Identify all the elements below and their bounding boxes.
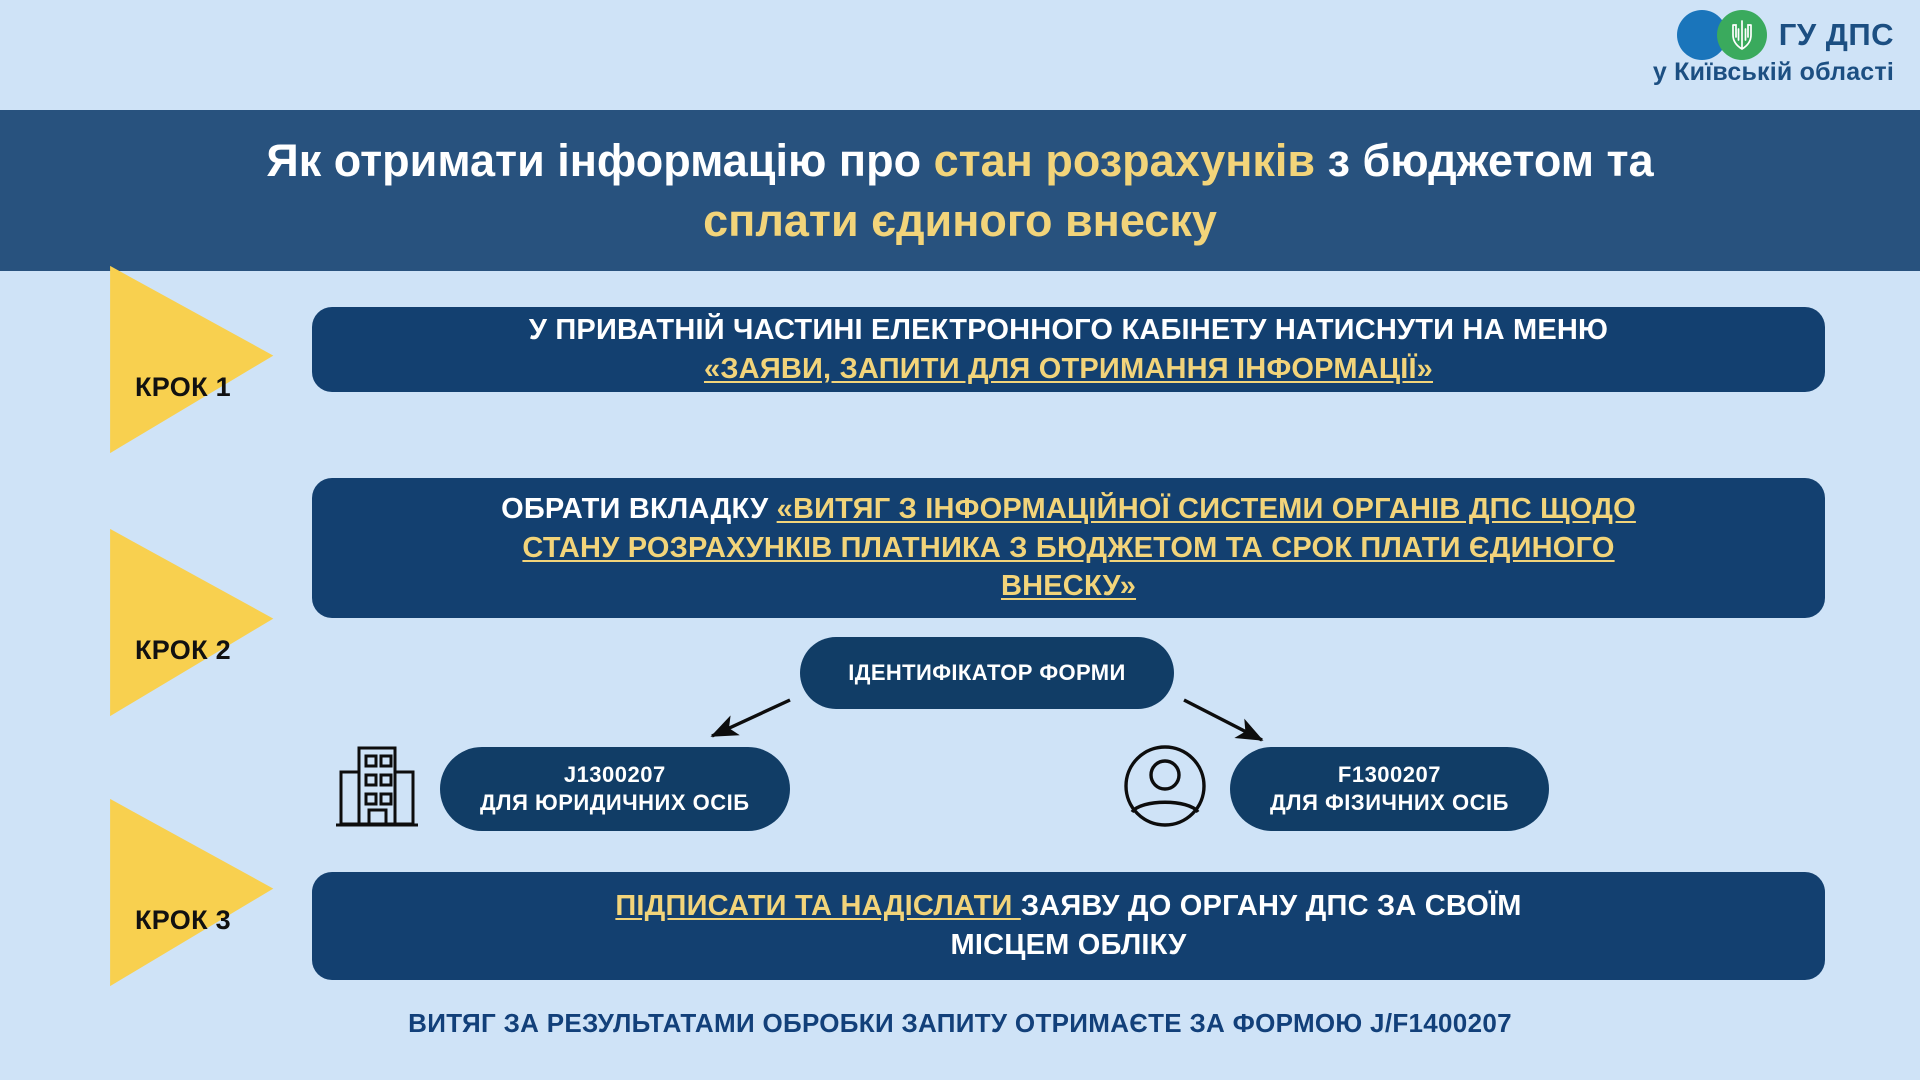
step-marker-2: КРОК 2 bbox=[105, 525, 275, 720]
step-card-1: У ПРИВАТНІЙ ЧАСТИНІ ЕЛЕКТРОННОГО КАБІНЕТ… bbox=[312, 307, 1825, 392]
logo-subtitle: у Київській області bbox=[1653, 58, 1894, 87]
step-1-link[interactable]: «ЗАЯВИ, ЗАПИТИ ДЛЯ ОТРИМАННЯ ІНФОРМАЦІЇ» bbox=[704, 350, 1433, 389]
step-card-3: ПІДПИСАТИ ТА НАДІСЛАТИ ЗАЯВУ ДО ОРГАНУ Д… bbox=[312, 872, 1825, 980]
step-3-plain-text: ЗАЯВУ ДО ОРГАНУ ДПС ЗА СВОЇМ bbox=[1021, 890, 1522, 922]
branch-individuals: F1300207 ДЛЯ ФІЗИЧНИХ ОСІБ bbox=[1122, 742, 1549, 835]
legal-entities-description: ДЛЯ ЮРИДИЧНИХ ОСІБ bbox=[480, 789, 750, 817]
step-arrow-shape-3 bbox=[105, 795, 275, 990]
step-marker-1: КРОК 1 bbox=[105, 262, 275, 457]
logo-title: ГУ ДПС bbox=[1779, 17, 1894, 53]
arrow-to-legal-entities bbox=[712, 700, 790, 736]
individuals-pill: F1300207 ДЛЯ ФІЗИЧНИХ ОСІБ bbox=[1230, 747, 1549, 831]
form-identifier-label: ІДЕНТИФІКАТОР ФОРМИ bbox=[848, 660, 1126, 686]
step-1-line-1: У ПРИВАТНІЙ ЧАСТИНІ ЕЛЕКТРОННОГО КАБІНЕТ… bbox=[529, 311, 1608, 350]
step-3-line-2: МІСЦЕМ ОБЛІКУ bbox=[950, 926, 1186, 965]
individuals-code: F1300207 bbox=[1338, 761, 1441, 789]
title-text-part-1: Як отримати інформацію про bbox=[266, 135, 933, 186]
organization-logo: ГУ ДПС у Київській області bbox=[1653, 10, 1894, 87]
form-identifier-pill: ІДЕНТИФІКАТОР ФОРМИ bbox=[800, 637, 1174, 709]
title-text-part-2: з бюджетом та bbox=[1315, 135, 1654, 186]
step-arrow-shape-1 bbox=[105, 262, 275, 457]
step-card-2: ОБРАТИ ВКЛАДКУ «ВИТЯГ З ІНФОРМАЦІЙНОЇ СИ… bbox=[312, 478, 1825, 618]
page-title-line-2: сплати єдиного внеску bbox=[703, 191, 1217, 251]
step-2-link-part-1[interactable]: «ВИТЯГ З ІНФОРМАЦІЙНОЇ СИСТЕМИ ОРГАНІВ Д… bbox=[777, 493, 1636, 525]
logo-row: ГУ ДПС bbox=[1677, 10, 1894, 60]
branch-legal-entities: J1300207 ДЛЯ ЮРИДИЧНИХ ОСІБ bbox=[336, 742, 790, 835]
title-bar: Як отримати інформацію про стан розрахун… bbox=[0, 110, 1920, 271]
infographic-page: ГУ ДПС у Київській області Як отримати і… bbox=[0, 0, 1920, 1080]
step-2-plain-text: ОБРАТИ ВКЛАДКУ bbox=[501, 493, 777, 525]
person-icon bbox=[1122, 742, 1208, 835]
step-label-2: КРОК 2 bbox=[113, 635, 253, 666]
individuals-description: ДЛЯ ФІЗИЧНИХ ОСІБ bbox=[1270, 789, 1509, 817]
step-label-1: КРОК 1 bbox=[113, 372, 253, 403]
step-label-3: КРОК 3 bbox=[113, 905, 253, 936]
footer-note: ВИТЯГ ЗА РЕЗУЛЬТАТАМИ ОБРОБКИ ЗАПИТУ ОТР… bbox=[0, 1008, 1920, 1039]
step-2-link-part-3[interactable]: ВНЕСКУ» bbox=[1001, 567, 1136, 606]
building-icon bbox=[336, 742, 418, 835]
step-arrow-shape-2 bbox=[105, 525, 275, 720]
step-marker-3: КРОК 3 bbox=[105, 795, 275, 990]
step-2-line-1: ОБРАТИ ВКЛАДКУ «ВИТЯГ З ІНФОРМАЦІЙНОЇ СИ… bbox=[501, 490, 1636, 529]
legal-entities-code: J1300207 bbox=[564, 761, 666, 789]
green-circle-trident-icon bbox=[1717, 10, 1767, 60]
arrow-to-individuals bbox=[1184, 700, 1262, 740]
legal-entities-pill: J1300207 ДЛЯ ЮРИДИЧНИХ ОСІБ bbox=[440, 747, 790, 831]
page-title-line-1: Як отримати інформацію про стан розрахун… bbox=[266, 131, 1653, 191]
step-2-link-part-2[interactable]: СТАНУ РОЗРАХУНКІВ ПЛАТНИКА З БЮДЖЕТОМ ТА… bbox=[522, 529, 1614, 568]
title-highlight: стан розрахунків bbox=[934, 135, 1316, 186]
step-3-link[interactable]: ПІДПИСАТИ ТА НАДІСЛАТИ bbox=[615, 890, 1020, 922]
step-3-line-1: ПІДПИСАТИ ТА НАДІСЛАТИ ЗАЯВУ ДО ОРГАНУ Д… bbox=[615, 887, 1521, 926]
